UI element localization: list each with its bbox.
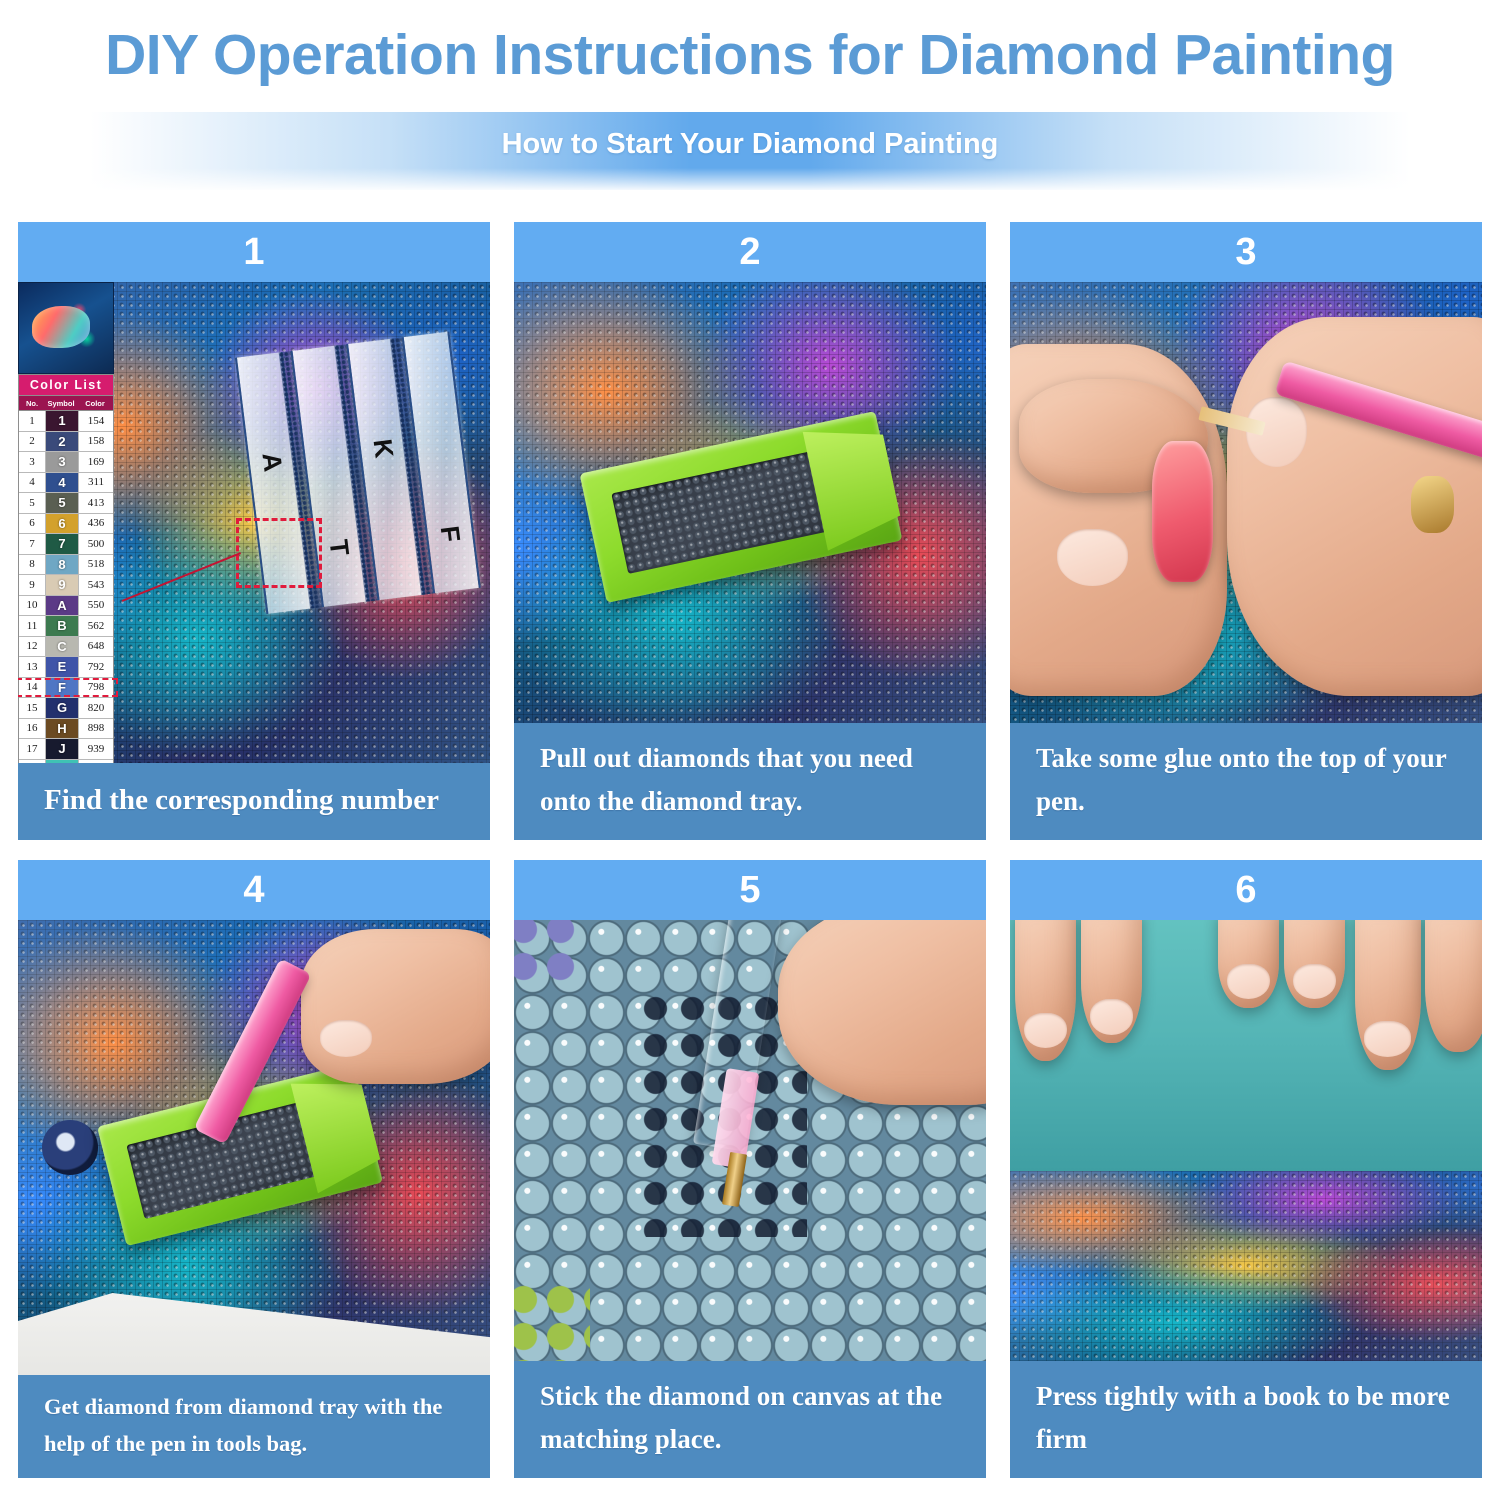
purple-diamonds-corner <box>514 920 580 990</box>
fingernail-3 <box>1227 964 1269 999</box>
fingernail-1 <box>1024 1013 1066 1048</box>
fish-eye-detail <box>42 1120 99 1175</box>
color-list-title: Color List <box>19 375 113 396</box>
color-row-code: 898 <box>79 719 113 739</box>
pen-picking-diamond-from-tray-photo <box>18 920 490 1375</box>
color-list-row: 66436 <box>19 514 113 535</box>
step-card-3: 3 Take some glue <box>1010 222 1482 840</box>
color-row-symbol: 5 <box>46 493 79 513</box>
color-row-symbol: 8 <box>46 555 79 575</box>
color-list-row: 44311 <box>19 473 113 494</box>
page-subtitle: How to Start Your Diamond Painting <box>0 128 1500 161</box>
color-row-number: 6 <box>19 514 46 534</box>
color-list-row: 99543 <box>19 575 113 596</box>
color-list-row: 18K958 <box>19 760 113 764</box>
bag-label-a: A <box>255 451 288 473</box>
color-row-number: 3 <box>19 452 46 472</box>
color-row-code: 500 <box>79 534 113 554</box>
color-row-symbol: J <box>46 739 79 759</box>
color-row-number: 9 <box>19 575 46 595</box>
color-row-code: 413 <box>79 493 113 513</box>
color-list-table: Color List No. Symbol Color 111542215833… <box>18 374 114 763</box>
finger-6 <box>1425 920 1482 1052</box>
color-row-number: 16 <box>19 719 46 739</box>
color-row-symbol: B <box>46 616 79 636</box>
color-row-code: 311 <box>79 473 113 493</box>
right-hand <box>301 929 490 1084</box>
step-caption-4: Get diamond from diamond tray with the h… <box>18 1375 490 1478</box>
bag-label-f: F <box>434 524 467 544</box>
color-row-code: 792 <box>79 657 113 677</box>
page-header: DIY Operation Instructions for Diamond P… <box>0 0 1500 200</box>
green-diamonds-corner <box>514 1281 590 1360</box>
color-row-number: 10 <box>19 596 46 616</box>
color-list-row: 88518 <box>19 555 113 576</box>
thumbnail <box>320 1020 372 1056</box>
color-row-number: 13 <box>19 657 46 677</box>
step-number-4: 4 <box>243 871 264 909</box>
page-title: DIY Operation Instructions for Diamond P… <box>0 22 1500 88</box>
step-caption-2: Pull out diamonds that you need onto the… <box>514 723 986 840</box>
diy-instructions-page: DIY Operation Instructions for Diamond P… <box>0 0 1500 1500</box>
step-card-1: 1 Color List No. Symbol Color 1115422158… <box>18 222 490 840</box>
color-row-code: 518 <box>79 555 113 575</box>
color-list-row: 10A550 <box>19 596 113 617</box>
ring <box>1411 476 1453 533</box>
step-number-header-2: 2 <box>514 222 986 282</box>
color-row-number: 2 <box>19 432 46 452</box>
color-row-code: 958 <box>79 760 113 764</box>
column-header-symbol: Symbol <box>45 396 77 410</box>
color-row-code: 154 <box>79 411 113 431</box>
fingernail-5 <box>1364 1021 1411 1056</box>
green-tray-with-diamonds-photo <box>514 282 986 723</box>
color-row-code: 562 <box>79 616 113 636</box>
hands-applying-glue-to-pen-photo <box>1010 282 1482 723</box>
step-caption-6: Press tightly with a book to be more fir… <box>1010 1361 1482 1478</box>
color-row-symbol: 7 <box>46 534 79 554</box>
color-row-number: 8 <box>19 555 46 575</box>
color-list-row: 55413 <box>19 493 113 514</box>
color-row-code: 436 <box>79 514 113 534</box>
color-row-number: 17 <box>19 739 46 759</box>
step-caption-1: Find the corresponding number <box>18 763 490 840</box>
color-list-row: 12C648 <box>19 637 113 658</box>
color-row-number: 12 <box>19 637 46 657</box>
step-caption-3: Take some glue onto the top of your pen. <box>1010 723 1482 840</box>
color-row-symbol: 2 <box>46 432 79 452</box>
step-caption-5: Stick the diamond on canvas at the match… <box>514 1361 986 1478</box>
step-number-header-1: 1 <box>18 222 490 282</box>
color-row-code: 798 <box>79 678 113 698</box>
pressing-canvas-with-book-photo <box>1010 920 1482 1361</box>
color-list-row: 13E792 <box>19 657 113 678</box>
step-number-header-5: 5 <box>514 860 986 920</box>
step-number-header-3: 3 <box>1010 222 1482 282</box>
left-thumbnail <box>1057 529 1128 586</box>
color-row-code: 543 <box>79 575 113 595</box>
step-number-header-4: 4 <box>18 860 490 920</box>
color-row-symbol: G <box>46 698 79 718</box>
color-row-symbol: C <box>46 637 79 657</box>
color-list-body: 1115422158331694431155413664367750088518… <box>19 411 113 763</box>
column-header-color: Color <box>77 396 113 410</box>
color-row-code: 158 <box>79 432 113 452</box>
color-list-row: 15G820 <box>19 698 113 719</box>
color-row-number: 11 <box>19 616 46 636</box>
step-number-3: 3 <box>1235 233 1256 271</box>
color-row-code: 820 <box>79 698 113 718</box>
bag-label-t: T <box>323 538 356 558</box>
step-card-4: 4 <box>18 860 490 1478</box>
step-card-5: 5 Stick the diamond on canvas at the mat… <box>514 860 986 1478</box>
color-row-number: 1 <box>19 411 46 431</box>
color-list-column-headers: No. Symbol Color <box>19 396 113 411</box>
step-number-6: 6 <box>1235 871 1256 909</box>
color-row-symbol: A <box>46 596 79 616</box>
color-row-symbol: 9 <box>46 575 79 595</box>
color-list-row: 11154 <box>19 411 113 432</box>
color-row-number: 5 <box>19 493 46 513</box>
step-number-1: 1 <box>243 233 264 271</box>
fingernail-4 <box>1293 964 1335 999</box>
bag-label-k: K <box>367 438 400 460</box>
fingernail-2 <box>1090 999 1132 1034</box>
step-number-header-6: 6 <box>1010 860 1482 920</box>
step-card-2: 2 Pull out diamonds that you need onto t… <box>514 222 986 840</box>
color-row-symbol: 4 <box>46 473 79 493</box>
steps-grid: 1 Color List No. Symbol Color 1115422158… <box>18 222 1482 1478</box>
pen-placing-diamond-on-canvas-photo <box>514 920 986 1361</box>
pink-glue-wax <box>1152 441 1213 582</box>
step-card-6: 6 <box>1010 860 1482 1478</box>
color-row-code: 648 <box>79 637 113 657</box>
color-row-symbol: F <box>46 678 79 698</box>
color-row-code: 939 <box>79 739 113 759</box>
color-row-number: 7 <box>19 534 46 554</box>
color-list-row: 14F798 <box>19 678 113 699</box>
color-row-symbol: E <box>46 657 79 677</box>
color-row-number: 4 <box>19 473 46 493</box>
color-row-symbol: 6 <box>46 514 79 534</box>
color-list-row: 11B562 <box>19 616 113 637</box>
step-number-2: 2 <box>739 233 760 271</box>
color-row-symbol: 3 <box>46 452 79 472</box>
color-list-row: 77500 <box>19 534 113 555</box>
color-list-row: 16H898 <box>19 719 113 740</box>
color-row-number: 15 <box>19 698 46 718</box>
color-chart-and-diamond-bags-photo: Color List No. Symbol Color 111542215833… <box>18 282 490 763</box>
color-list-row: 33169 <box>19 452 113 473</box>
color-row-code: 550 <box>79 596 113 616</box>
color-row-number: 14 <box>19 678 46 698</box>
color-row-number: 18 <box>19 760 46 764</box>
color-row-symbol: 1 <box>46 411 79 431</box>
column-header-no: No. <box>19 396 45 410</box>
color-row-code: 169 <box>79 452 113 472</box>
color-row-symbol: K <box>46 760 79 764</box>
color-row-symbol: H <box>46 719 79 739</box>
step-number-5: 5 <box>739 871 760 909</box>
pattern-thumbnail-image <box>18 282 114 374</box>
color-list-row: 17J939 <box>19 739 113 760</box>
color-list-row: 22158 <box>19 432 113 453</box>
highlight-box-bag-f <box>236 518 322 588</box>
finished-diamond-painting <box>1010 1171 1482 1360</box>
